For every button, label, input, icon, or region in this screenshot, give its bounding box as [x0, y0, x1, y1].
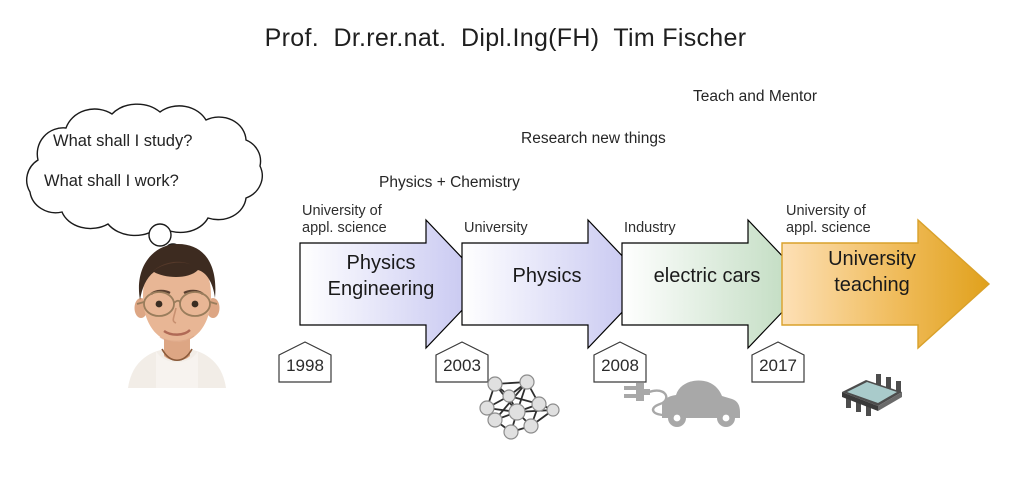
microchip-shape: [836, 370, 914, 420]
portrait-illustration: [118, 236, 236, 388]
arrow-caption-physics: University: [464, 220, 528, 237]
page-title: Prof. Dr.rer.nat. Dipl.Ing(FH) Tim Fisch…: [0, 24, 1011, 53]
year-tag-2017[interactable]: 2017: [750, 340, 806, 384]
thought-bubble-line-2: What shall I work?: [44, 172, 179, 191]
microchip-icon: [836, 370, 914, 420]
arrow-caption-university-teaching: University of appl. science: [786, 203, 871, 237]
network-graph-shape: [465, 368, 570, 448]
slide-canvas: Prof. Dr.rer.nat. Dipl.Ing(FH) Tim Fisch…: [0, 0, 1011, 491]
arrow-caption-physics-engineering: University of appl. science: [302, 203, 387, 237]
electric-car-shape: [622, 372, 742, 428]
thought-bubble-line-1: What shall I study?: [53, 132, 192, 151]
year-tag-label: 2017: [750, 356, 806, 376]
year-tag-1998[interactable]: 1998: [277, 340, 333, 384]
label-teach-and-mentor: Teach and Mentor: [693, 88, 817, 106]
network-graph-icon: [465, 368, 570, 448]
electric-car-icon: [622, 372, 742, 428]
label-research-new-things: Research new things: [521, 130, 666, 148]
year-tag-label: 1998: [277, 356, 333, 376]
label-physics-chemistry: Physics + Chemistry: [379, 174, 520, 192]
arrow-caption-electric-cars: Industry: [624, 220, 676, 237]
portrait-photo: [118, 236, 236, 388]
